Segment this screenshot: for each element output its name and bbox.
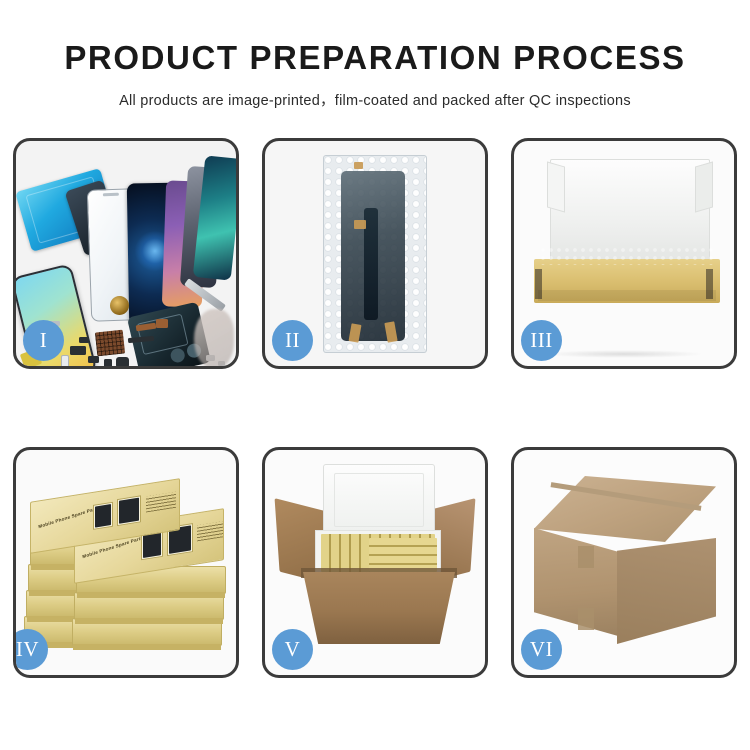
step-panel-6: VI [511,447,737,678]
carton-left-face [534,528,618,636]
spec-text-lines [197,521,224,542]
small-part [70,346,86,355]
step-badge-5: V [272,629,313,670]
hand [194,309,234,366]
spec-text-lines [146,492,176,513]
flex-cable [156,319,168,328]
tape-patch [578,608,594,630]
yellow-boxes-row [369,538,437,572]
retail-box-label: Mobile Phone Spare Parts [38,505,100,529]
step-badge-3: III [521,320,562,361]
kraft-box-tray [534,259,720,303]
chip-grid-component [95,330,125,357]
step-panel-5: V [262,447,488,678]
step-badge-2: II [272,320,313,361]
box-side-left [535,269,542,299]
carton-right-face [617,538,716,644]
bubble-wrap-bag [323,155,427,353]
box-window [93,502,113,530]
page-title: PRODUCT PREPARATION PROCESS [0,40,750,76]
stacked-boxes-photo: Mobile Phone Spare Parts Mobile Phone Sp… [16,450,236,675]
step-badge-1: I [23,320,64,361]
page-subtitle: All products are image-printed，film-coat… [0,89,750,110]
camera-module [116,357,129,366]
tape-mark [354,220,366,229]
tape-mark [354,162,363,169]
process-steps-grid: I II [13,138,737,678]
step-panel-4: Mobile Phone Spare Parts Mobile Phone Sp… [13,447,239,678]
step-panel-2: II [262,138,488,369]
box-stack: Mobile Phone Spare Parts Mobile Phone Sp… [24,468,230,664]
tape-patch [578,546,594,568]
carton-body [303,572,455,644]
box-window [117,495,141,526]
small-part [61,355,69,366]
coil-component [110,296,129,315]
step-badge-6: VI [521,629,562,670]
small-part [88,356,99,363]
box-side-right [706,269,713,299]
small-part [79,337,89,343]
product-preparation-infographic: PRODUCT PREPARATION PROCESS All products… [0,0,750,750]
drop-shadow [544,350,704,358]
step-panel-3: III [511,138,737,369]
header: PRODUCT PREPARATION PROCESS All products… [0,0,750,110]
step-panel-1: I [13,138,239,369]
wrapped-flex-cable [364,208,378,320]
small-part [104,359,112,366]
styrofoam-lid [323,464,435,536]
